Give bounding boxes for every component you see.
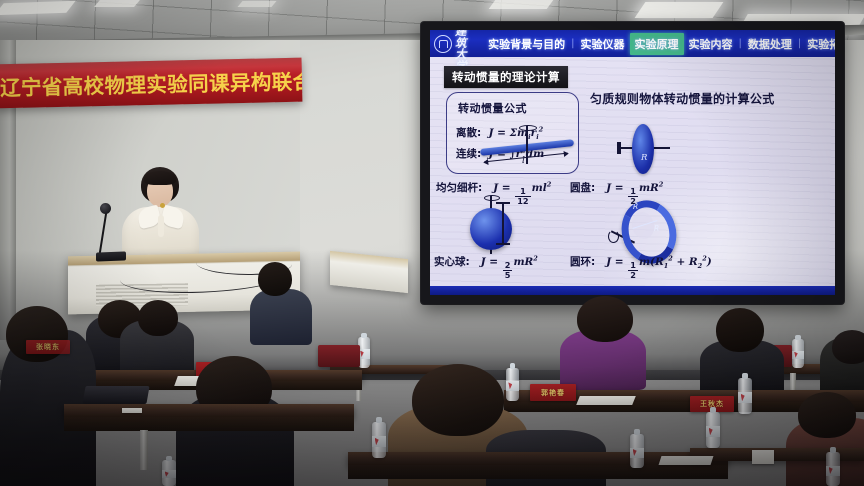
formula-ring: 圆环: J = 12m(R12 + R22): [570, 254, 712, 279]
audience-person-head: [258, 262, 292, 296]
nav-item-content[interactable]: 实验内容: [684, 33, 738, 55]
nav-item-data-processing[interactable]: 数据处理: [743, 33, 797, 55]
water-bottle: [792, 339, 804, 368]
formula-disc: 圆盘: J = 12mR2: [570, 180, 663, 205]
logo-emblem-icon: [434, 35, 452, 53]
presenter-brooch: [160, 203, 165, 208]
name-placard: 郭艳春: [530, 384, 576, 401]
screenshot-root: 辽宁省高校物理实验同课异构联合教研活动 海南建筑大学 HAINAN JIANZH…: [0, 0, 864, 486]
desk-front-panel: [64, 417, 354, 431]
tissue-box: [752, 450, 774, 464]
formula-thin-rod: 均匀细杆: J = 112ml2: [436, 180, 551, 205]
water-bottle: [162, 460, 176, 486]
nav-item-principle[interactable]: 实验原理: [630, 33, 684, 55]
presenter-fringe: [144, 171, 176, 185]
paper-sheet: [122, 408, 142, 413]
thin-rod-diagram-icon: l: [474, 126, 584, 170]
formula-ring-label: 圆环:: [570, 256, 595, 268]
regular-bodies-heading: 匀质规则物体转动惯量的计算公式: [590, 90, 775, 107]
audience-person-head: [832, 330, 864, 364]
water-bottle: [630, 434, 644, 468]
audience-person-head: [412, 364, 504, 436]
nav-separator: |: [570, 38, 575, 49]
formula-disc-label: 圆盘:: [570, 182, 595, 194]
ceiling-light: [635, 2, 724, 18]
audience-person-head: [798, 392, 856, 438]
audience-person-head: [716, 308, 764, 352]
desk-leg: [140, 430, 148, 470]
nav-item-background-purpose[interactable]: 实验背景与目的: [483, 33, 570, 55]
slide-title: 转动惯量的理论计算: [444, 66, 568, 88]
water-bottle: [506, 368, 519, 401]
water-bottle: [826, 452, 840, 486]
card-heading: 转动惯量公式: [458, 100, 527, 116]
nav-separator: |: [797, 38, 802, 49]
formula-solid-sphere-label: 实心球:: [434, 256, 470, 268]
microphone-icon: [100, 203, 111, 214]
name-placard-text: 张晓东: [36, 342, 60, 352]
chair: [318, 345, 360, 367]
slide: 海南建筑大学 HAINAN JIANZHU UNIVERSITY 实验背景与目的…: [430, 30, 835, 295]
ceiling-light: [94, 0, 140, 7]
desk-row: [64, 404, 354, 418]
audience-person: [250, 289, 312, 345]
ceiling-light: [237, 1, 276, 7]
presenter: [118, 167, 202, 259]
laptop[interactable]: [82, 386, 149, 404]
event-banner: 辽宁省高校物理实验同课异构联合教研活动: [0, 58, 302, 109]
water-bottle: [372, 422, 386, 458]
audience-person-head: [138, 300, 178, 336]
slide-footer-bar: [430, 286, 835, 295]
nav-item-instruments[interactable]: 实验仪器: [576, 33, 630, 55]
water-bottle: [738, 378, 752, 414]
nav-item-extension[interactable]: 实验拓展: [802, 33, 835, 55]
nav-separator: |: [738, 38, 743, 49]
water-bottle: [706, 412, 720, 448]
name-placard-text: 郭艳春: [541, 388, 565, 398]
formula-solid-sphere: 实心球: J = 25mR2: [434, 254, 538, 279]
disc-diagram-icon: R: [616, 122, 672, 176]
formula-thin-rod-label: 均匀细杆:: [436, 182, 482, 194]
display-screen: 海南建筑大学 HAINAN JIANZHU UNIVERSITY 实验背景与目的…: [421, 22, 844, 304]
name-placard: 张晓东: [26, 340, 70, 354]
audience-person-head: [577, 296, 633, 342]
desk-front-panel: [348, 465, 728, 479]
screen-surface: 海南建筑大学 HAINAN JIANZHU UNIVERSITY 实验背景与目的…: [430, 30, 835, 295]
paper-sheet: [576, 396, 636, 405]
presenter-ribbon: [158, 215, 164, 237]
slide-nav-bar: 海南建筑大学 HAINAN JIANZHU UNIVERSITY 实验背景与目的…: [430, 30, 835, 57]
ceiling-light: [489, 0, 554, 9]
paper-sheet: [659, 456, 714, 465]
